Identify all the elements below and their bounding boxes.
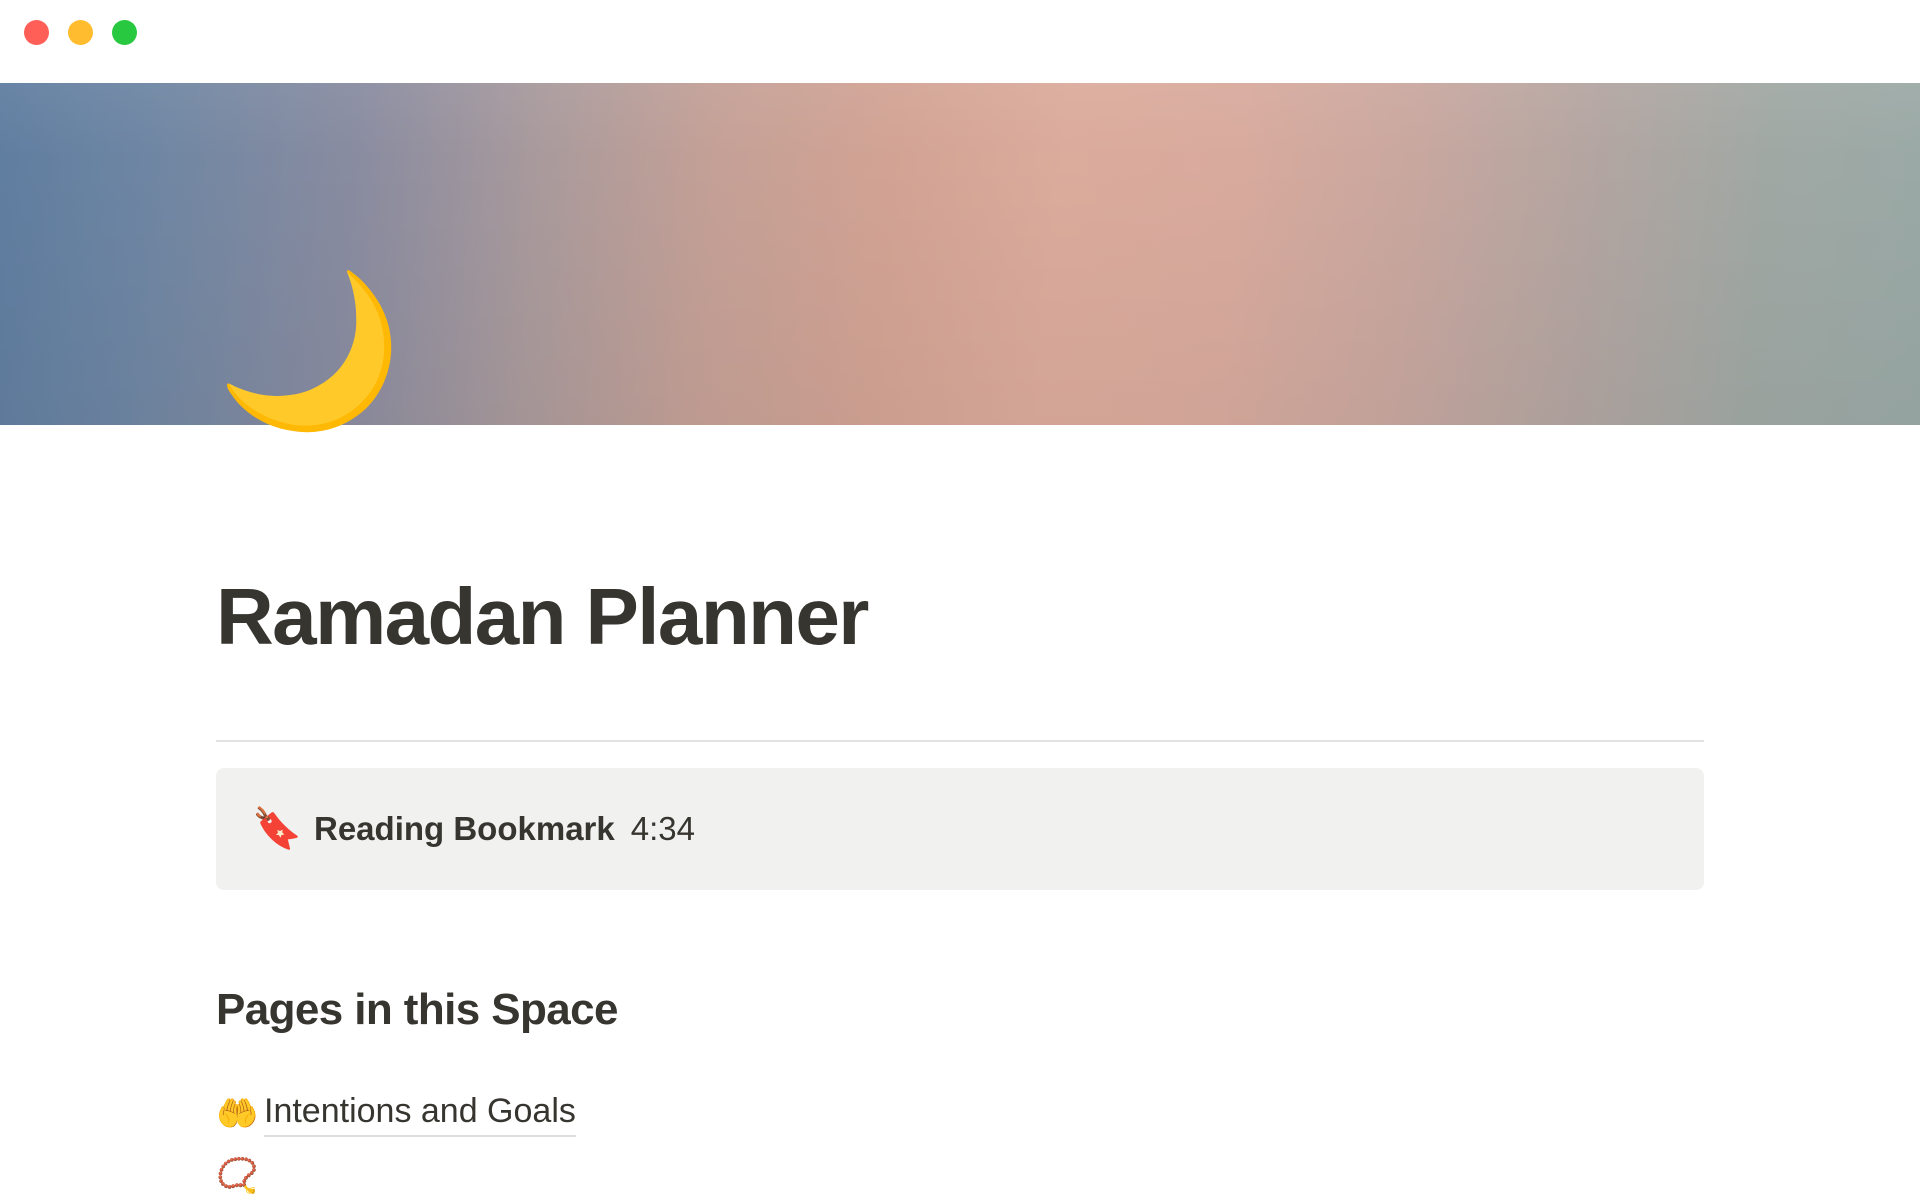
close-window-button[interactable] (24, 20, 49, 45)
callout-text: Reading Bookmark 4:34 (314, 810, 695, 848)
page-link-next-partial[interactable]: 📿 (216, 1145, 1704, 1200)
section-heading-pages-in-this-space[interactable]: Pages in this Space (216, 985, 618, 1035)
page-link-label[interactable]: Intentions and Goals (264, 1091, 576, 1138)
page-title[interactable]: Ramadan Planner (216, 575, 1716, 659)
reading-bookmark-callout[interactable]: 🔖 Reading Bookmark 4:34 (216, 768, 1704, 890)
palms-up-together-icon: 🤲 (216, 1097, 264, 1131)
window-titlebar (0, 0, 1920, 83)
app-window: 🌙 Ramadan Planner 🔖 Reading Bookmark 4:3… (0, 0, 1920, 1200)
page-link-intentions-and-goals[interactable]: 🤲 Intentions and Goals (216, 1083, 1704, 1145)
minimize-window-button[interactable] (68, 20, 93, 45)
crescent-moon-icon[interactable]: 🌙 (216, 276, 403, 426)
bookmark-icon: 🔖 (252, 809, 306, 849)
traffic-light-controls (24, 20, 137, 45)
page-links-list: 🤲 Intentions and Goals 📿 (216, 1083, 1704, 1200)
callout-value: 4:34 (631, 810, 695, 848)
callout-label: Reading Bookmark (314, 810, 615, 848)
page-content: 🌙 Ramadan Planner 🔖 Reading Bookmark 4:3… (0, 83, 1920, 1200)
zoom-window-button[interactable] (112, 20, 137, 45)
prayer-beads-icon: 📿 (216, 1159, 264, 1193)
horizontal-divider (216, 740, 1704, 742)
